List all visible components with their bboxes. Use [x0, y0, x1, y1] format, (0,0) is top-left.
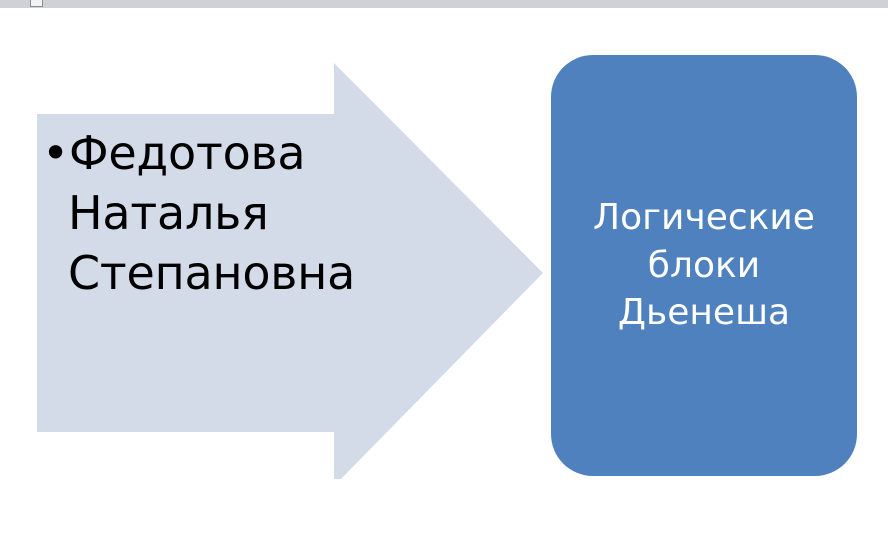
logic-blocks-card[interactable]: Логические блоки Дьенеша: [551, 55, 857, 476]
logic-blocks-card-text: Логические блоки Дьенеша: [581, 194, 827, 338]
card-text-line-2: блоки: [593, 242, 815, 290]
arrow-text-line-1: •Федотова: [42, 124, 330, 184]
window-top-bar: [0, 0, 888, 8]
window-tab-handle[interactable]: [30, 0, 43, 7]
arrow-text-line-3: Степановна: [42, 244, 330, 304]
arrow-text-block: •Федотова Наталья Степановна: [38, 124, 334, 303]
slide-canvas: •Федотова Наталья Степановна Логические …: [0, 8, 888, 542]
arrow-text-line-2: Наталья: [42, 184, 330, 244]
card-text-line-1: Логические: [593, 194, 815, 242]
card-text-line-3: Дьенеша: [593, 289, 815, 337]
arrow-text-line-1-label: Федотова: [69, 126, 306, 180]
bullet-icon: •: [42, 126, 69, 180]
